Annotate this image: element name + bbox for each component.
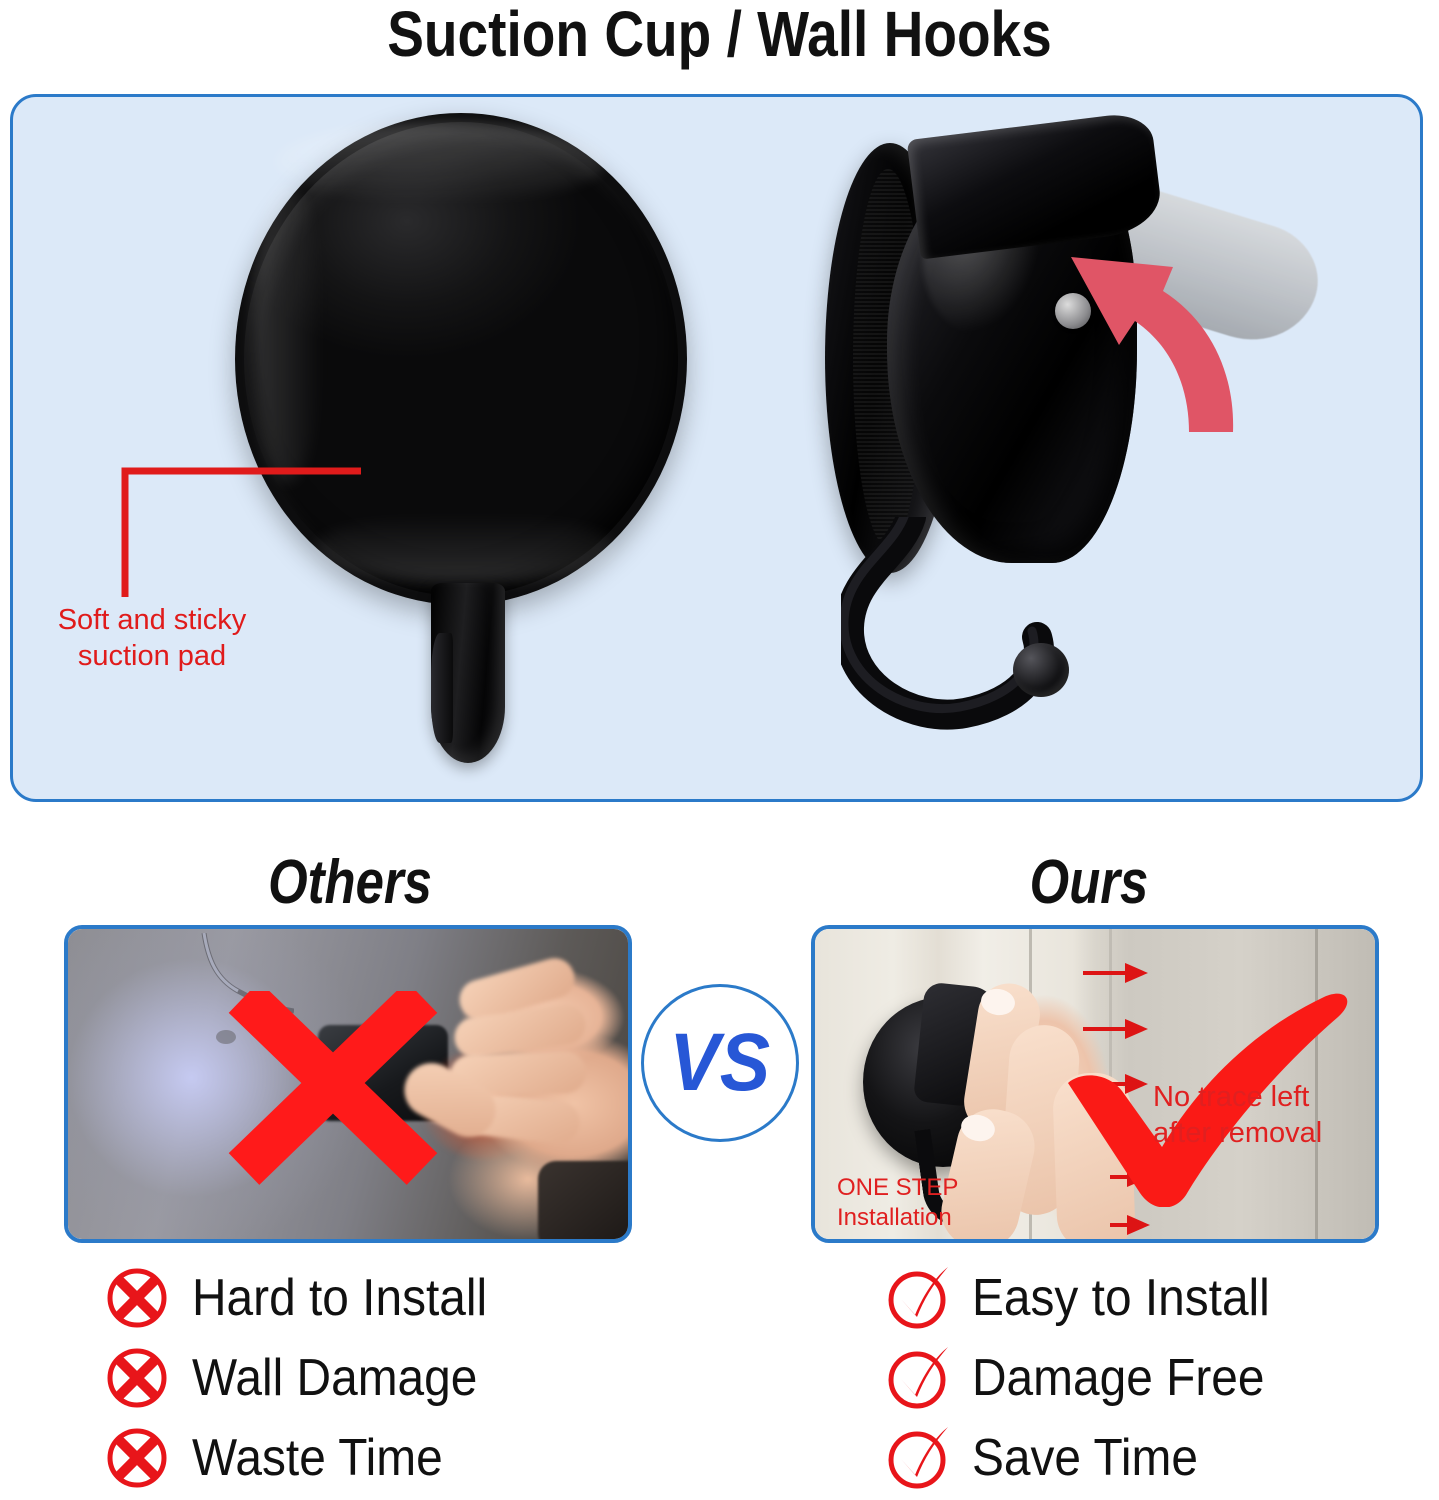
circle-x-icon bbox=[104, 1425, 170, 1491]
others-photo-card bbox=[64, 925, 632, 1243]
list-item: Waste Time bbox=[104, 1418, 513, 1498]
vs-badge: VS bbox=[641, 984, 799, 1142]
circle-check-icon bbox=[884, 1345, 950, 1411]
list-item-label: Wall Damage bbox=[192, 1349, 477, 1407]
hero-product-panel: Soft and sticky suction pad bbox=[10, 94, 1423, 802]
comparison-heading-ours: Ours bbox=[802, 848, 1376, 918]
list-item: Save Time bbox=[884, 1418, 1296, 1498]
circle-x-icon bbox=[104, 1345, 170, 1411]
no-trace-label: No trace left after removal bbox=[1153, 1079, 1322, 1151]
list-item-label: Save Time bbox=[972, 1429, 1198, 1487]
no-trace-label-line-2: after removal bbox=[1153, 1115, 1322, 1151]
ours-photo-card: ONE STEP Installation No trace left afte… bbox=[811, 925, 1379, 1243]
list-item: Easy to Install bbox=[884, 1258, 1296, 1338]
list-item: Wall Damage bbox=[104, 1338, 513, 1418]
vs-label: VS bbox=[670, 1022, 771, 1104]
photo-sleeve bbox=[538, 1161, 632, 1243]
one-step-label: ONE STEP Installation bbox=[837, 1173, 958, 1233]
others-feature-list: Hard to Install Wall Damage Waste Time bbox=[104, 1258, 513, 1498]
list-item-label: Damage Free bbox=[972, 1349, 1264, 1407]
callout-line-2: suction pad bbox=[27, 638, 277, 674]
curved-lever-arrow-icon bbox=[1023, 227, 1293, 447]
list-item: Hard to Install bbox=[104, 1258, 513, 1338]
hook-arm bbox=[841, 517, 1091, 747]
one-step-label-line-1: ONE STEP bbox=[837, 1173, 958, 1203]
list-item-label: Hard to Install bbox=[192, 1269, 487, 1327]
hook-notch bbox=[431, 633, 453, 743]
suction-cup-side-view bbox=[813, 117, 1333, 797]
no-trace-label-line-1: No trace left bbox=[1153, 1079, 1322, 1115]
page-title: Suction Cup / Wall Hooks bbox=[101, 0, 1339, 72]
ours-feature-list: Easy to Install Damage Free Save Time bbox=[884, 1258, 1296, 1498]
comparison-heading-others: Others bbox=[63, 848, 637, 918]
gloss-highlight-top bbox=[275, 123, 605, 203]
one-step-label-line-2: Installation bbox=[837, 1203, 958, 1233]
hook-tip-ball bbox=[1013, 643, 1069, 697]
list-item-label: Easy to Install bbox=[972, 1269, 1270, 1327]
circle-check-icon bbox=[884, 1265, 950, 1331]
callout-text: Soft and sticky suction pad bbox=[27, 602, 277, 674]
list-item-label: Waste Time bbox=[192, 1429, 443, 1487]
circle-x-icon bbox=[104, 1265, 170, 1331]
callout-line-1: Soft and sticky bbox=[27, 602, 277, 638]
list-item: Damage Free bbox=[884, 1338, 1296, 1418]
circle-check-icon bbox=[884, 1425, 950, 1491]
red-x-overlay-icon bbox=[228, 991, 438, 1191]
infographic-page: Suction Cup / Wall Hooks bbox=[0, 0, 1439, 1500]
